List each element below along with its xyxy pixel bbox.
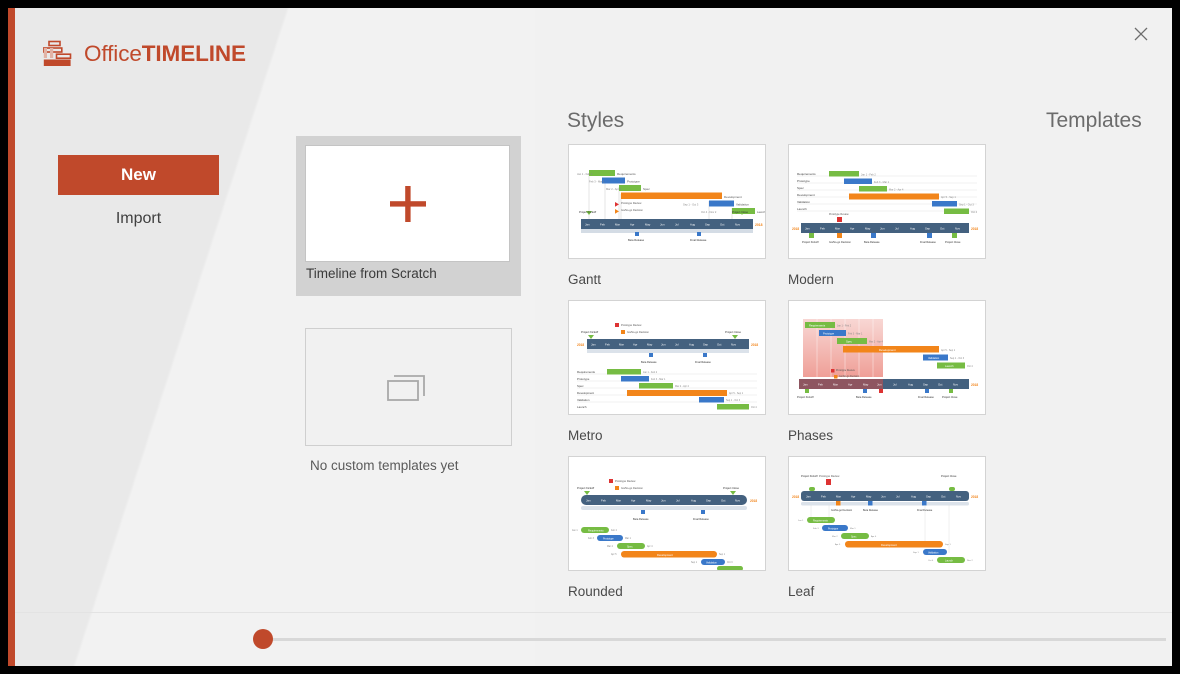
- svg-text:Launch: Launch: [945, 364, 954, 368]
- svg-text:Jul: Jul: [676, 499, 680, 503]
- svg-text:Sep 1 - Oct 3: Sep 1 - Oct 3: [726, 399, 741, 402]
- dialog-surface: OfficeTIMELINE New Import: [15, 8, 1172, 666]
- svg-text:Prototype: Prototype: [577, 377, 590, 381]
- svg-text:Apr: Apr: [633, 343, 637, 347]
- style-tile-leaf[interactable]: Prototype Review Project Kickoff Project…: [788, 456, 986, 599]
- svg-text:Feb: Feb: [600, 223, 605, 227]
- svg-text:May: May: [646, 499, 652, 503]
- svg-text:Sep: Sep: [923, 383, 928, 387]
- new-button[interactable]: New: [58, 155, 219, 195]
- close-icon[interactable]: [1126, 19, 1156, 49]
- svg-text:Beta Release: Beta Release: [863, 509, 879, 512]
- svg-text:Apr: Apr: [850, 227, 854, 231]
- svg-text:Validation: Validation: [797, 200, 810, 204]
- slider-divider: [15, 612, 1172, 613]
- svg-text:Prototype: Prototype: [823, 332, 835, 336]
- svg-text:Go/No-go Decision: Go/No-go Decision: [839, 375, 860, 378]
- svg-text:2018: 2018: [792, 495, 799, 499]
- svg-text:Jan 1: Jan 1: [572, 530, 578, 532]
- svg-text:Prototype Review: Prototype Review: [621, 201, 641, 205]
- svg-text:Spec: Spec: [797, 186, 804, 190]
- svg-text:Feb: Feb: [818, 383, 823, 387]
- svg-text:Sep 1 - Oct 3: Sep 1 - Oct 3: [959, 204, 974, 207]
- gantt-preview: Requirements Jan 1 - Feb 2 Prototype Feb…: [568, 144, 766, 259]
- svg-text:Nov 2: Nov 2: [967, 560, 973, 562]
- svg-text:2018: 2018: [971, 383, 978, 387]
- svg-text:Mar 2 - Apr 4: Mar 2 - Apr 4: [889, 189, 904, 192]
- svg-text:Requirements: Requirements: [577, 370, 596, 374]
- svg-text:Nov: Nov: [955, 227, 961, 231]
- svg-text:Spec: Spec: [627, 546, 633, 549]
- svg-text:2018: 2018: [971, 495, 978, 499]
- svg-text:Oct 4: Oct 4: [751, 406, 757, 409]
- svg-text:Final Release: Final Release: [920, 240, 936, 244]
- svg-text:Spec: Spec: [643, 187, 650, 191]
- svg-text:Jul: Jul: [896, 495, 900, 499]
- svg-text:Apr 5: Apr 5: [611, 553, 617, 556]
- svg-text:Apr: Apr: [848, 383, 852, 387]
- svg-text:2018: 2018: [792, 227, 799, 231]
- svg-text:Nov: Nov: [735, 499, 741, 503]
- svg-text:Feb: Feb: [605, 343, 610, 347]
- svg-text:May: May: [647, 343, 653, 347]
- svg-text:Validation: Validation: [928, 552, 939, 555]
- left-navigation: New Import: [15, 8, 277, 666]
- svg-text:Mar 2 - Apr 4: Mar 2 - Apr 4: [869, 341, 883, 344]
- svg-text:Nov: Nov: [735, 223, 741, 227]
- svg-text:Oct: Oct: [717, 343, 722, 347]
- svg-text:Final Release: Final Release: [695, 360, 711, 364]
- svg-text:Jul: Jul: [675, 223, 679, 227]
- style-label-metro: Metro: [568, 428, 766, 443]
- svg-text:Sep: Sep: [703, 343, 708, 347]
- svg-text:Oct 4: Oct 4: [928, 559, 934, 562]
- svg-text:Go/No-go Decision: Go/No-go Decision: [621, 208, 643, 212]
- svg-text:Prototype Review: Prototype Review: [819, 474, 839, 478]
- custom-templates-label: No custom templates yet: [310, 458, 459, 473]
- svg-text:Feb: Feb: [821, 495, 826, 499]
- svg-text:Spec: Spec: [846, 340, 853, 344]
- svg-text:May: May: [866, 495, 872, 499]
- svg-text:Apr 5 - Sep 1: Apr 5 - Sep 1: [729, 392, 744, 395]
- svg-text:Feb 3 - Mar 1: Feb 3 - Mar 1: [589, 180, 605, 184]
- svg-text:Sep 1: Sep 1: [945, 544, 952, 546]
- svg-text:Nov: Nov: [731, 343, 737, 347]
- svg-text:Jan: Jan: [803, 383, 808, 387]
- svg-text:Spec: Spec: [851, 536, 857, 539]
- custom-templates-card[interactable]: No custom templates yet: [305, 328, 512, 483]
- style-tile-rounded[interactable]: Prototype Review Go/No-go Decision Proje…: [568, 456, 766, 599]
- svg-text:Beta Release: Beta Release: [641, 360, 657, 364]
- svg-text:Prototype: Prototype: [627, 180, 640, 184]
- svg-text:Mar 2 - Apr 4: Mar 2 - Apr 4: [606, 187, 622, 191]
- svg-text:Feb 2: Feb 2: [611, 530, 618, 532]
- svg-text:Project Close: Project Close: [732, 210, 748, 214]
- style-label-phases: Phases: [788, 428, 986, 443]
- svg-text:Aug: Aug: [908, 383, 913, 387]
- svg-text:Jan: Jan: [805, 227, 810, 231]
- svg-text:Jan 1 - Feb 2: Jan 1 - Feb 2: [861, 174, 876, 177]
- svg-text:Go/No-go Decision: Go/No-go Decision: [831, 509, 853, 512]
- svg-text:Beta Release: Beta Release: [633, 517, 649, 521]
- svg-text:2018: 2018: [750, 499, 757, 503]
- svg-text:Project Close: Project Close: [945, 240, 961, 244]
- timeline-from-scratch-card[interactable]: Timeline from Scratch: [296, 136, 521, 296]
- svg-text:Nov: Nov: [956, 495, 962, 499]
- svg-text:Oct: Oct: [938, 383, 943, 387]
- svg-text:Launch: Launch: [945, 560, 954, 563]
- timeline-from-scratch-label: Timeline from Scratch: [306, 266, 437, 281]
- svg-text:Beta Release: Beta Release: [864, 240, 880, 244]
- svg-text:Sep 1 - Oct 3: Sep 1 - Oct 3: [683, 203, 699, 207]
- svg-text:Apr 5: Apr 5: [835, 543, 841, 546]
- office-timeline-dialog: OfficeTIMELINE New Import: [8, 8, 1172, 666]
- svg-text:Oct: Oct: [941, 495, 946, 499]
- rounded-preview: Prototype Review Go/No-go Decision Proje…: [568, 456, 766, 571]
- svg-text:Mar: Mar: [836, 495, 841, 499]
- svg-text:Requirements: Requirements: [797, 172, 816, 176]
- svg-text:Prototype Review: Prototype Review: [621, 323, 641, 327]
- svg-text:Jan: Jan: [806, 495, 811, 499]
- svg-text:Aug: Aug: [911, 495, 916, 499]
- svg-text:Final Release: Final Release: [693, 517, 709, 521]
- svg-text:Prototype Review: Prototype Review: [829, 213, 849, 216]
- svg-text:Development: Development: [881, 543, 897, 547]
- svg-text:Aug: Aug: [691, 499, 696, 503]
- svg-text:Requirements: Requirements: [809, 324, 826, 328]
- svg-text:2018: 2018: [755, 223, 763, 227]
- svg-text:Go/No-go Decision: Go/No-go Decision: [627, 330, 649, 334]
- svg-text:Oct 4: Oct 4: [971, 211, 978, 214]
- svg-text:Jun: Jun: [877, 383, 882, 387]
- svg-text:Feb 3: Feb 3: [588, 538, 595, 540]
- left-accent-stripe: [8, 8, 15, 666]
- svg-text:Mar: Mar: [616, 499, 621, 503]
- svg-text:Prototype Review: Prototype Review: [836, 369, 855, 372]
- svg-text:Aug: Aug: [689, 343, 694, 347]
- svg-text:Sep 1: Sep 1: [691, 562, 698, 564]
- svg-text:Mar 2: Mar 2: [607, 545, 614, 548]
- style-tile-metro[interactable]: Prototype Review Go/No-go Decision Proje…: [568, 300, 766, 443]
- svg-text:Sep 1: Sep 1: [913, 552, 920, 554]
- svg-text:Sep 1 - Oct 3: Sep 1 - Oct 3: [950, 357, 965, 360]
- leaf-preview: Prototype Review Project Kickoff Project…: [788, 456, 986, 571]
- svg-text:Apr 5 - Sep 1: Apr 5 - Sep 1: [941, 196, 956, 199]
- svg-text:Oct: Oct: [720, 223, 725, 227]
- svg-text:Project Close: Project Close: [942, 395, 958, 399]
- svg-text:Jun: Jun: [881, 495, 886, 499]
- svg-text:Requirements: Requirements: [813, 520, 829, 523]
- svg-text:Validation: Validation: [706, 562, 717, 565]
- custom-templates-thumbnail: [305, 328, 512, 446]
- svg-text:Validation: Validation: [736, 203, 749, 207]
- svg-text:Beta Release: Beta Release: [628, 238, 645, 242]
- svg-text:May: May: [863, 383, 869, 387]
- svg-text:Sep 1: Sep 1: [719, 554, 726, 556]
- svg-text:Jan: Jan: [585, 223, 590, 227]
- style-tile-gantt[interactable]: Requirements Jan 1 - Feb 2 Prototype Feb…: [568, 144, 766, 287]
- svg-text:Oct 4 - Nov 2: Oct 4 - Nov 2: [701, 210, 717, 214]
- modern-preview: RequirementsPrototypeSpec DevelopmentVal…: [788, 144, 986, 259]
- svg-text:Development: Development: [879, 348, 896, 352]
- svg-text:Sep: Sep: [705, 223, 710, 227]
- svg-text:Jan 1 - Feb 2: Jan 1 - Feb 2: [577, 172, 593, 176]
- metro-preview: Prototype Review Go/No-go Decision Proje…: [568, 300, 766, 415]
- slider-track[interactable]: [256, 638, 1166, 641]
- svg-text:Mar: Mar: [615, 223, 620, 227]
- svg-text:May: May: [645, 223, 651, 227]
- svg-text:Feb: Feb: [601, 499, 606, 503]
- style-tile-phases[interactable]: Requirements Jan 1 - Feb 2 Prototype Feb…: [788, 300, 986, 443]
- horizontal-scroll-slider[interactable]: [15, 620, 1172, 660]
- svg-text:2018: 2018: [751, 343, 758, 347]
- style-label-leaf: Leaf: [788, 584, 986, 599]
- svg-text:Jun: Jun: [880, 227, 885, 231]
- svg-text:Requirements: Requirements: [617, 172, 636, 176]
- svg-text:Project Kickoff: Project Kickoff: [797, 395, 814, 399]
- style-tile-modern[interactable]: RequirementsPrototypeSpec DevelopmentVal…: [788, 144, 986, 287]
- svg-text:Jul: Jul: [675, 343, 679, 347]
- svg-text:Feb 3 - Mar 1: Feb 3 - Mar 1: [874, 181, 890, 184]
- svg-text:Apr: Apr: [851, 495, 855, 499]
- style-label-rounded: Rounded: [568, 584, 766, 599]
- svg-text:Development: Development: [797, 193, 815, 197]
- svg-text:Launch: Launch: [757, 210, 765, 214]
- svg-text:Feb: Feb: [820, 227, 825, 231]
- svg-text:Apr 4: Apr 4: [647, 545, 653, 548]
- svg-text:Prototype: Prototype: [797, 179, 810, 183]
- svg-text:Jan: Jan: [586, 499, 591, 503]
- svg-text:Aug: Aug: [690, 223, 695, 227]
- svg-text:Sep: Sep: [925, 227, 930, 231]
- svg-text:Mar 2: Mar 2: [832, 535, 838, 538]
- svg-text:Project Kickoff: Project Kickoff: [577, 486, 594, 490]
- svg-text:Oct: Oct: [940, 227, 945, 231]
- svg-text:May: May: [865, 227, 871, 231]
- svg-text:Apr: Apr: [630, 223, 634, 227]
- svg-text:2018: 2018: [971, 227, 978, 231]
- svg-text:Beta Release: Beta Release: [856, 395, 872, 399]
- svg-text:Aug: Aug: [910, 227, 915, 231]
- style-label-modern: Modern: [788, 272, 986, 287]
- svg-text:Development: Development: [724, 195, 742, 199]
- svg-text:Jan 1: Jan 1: [798, 520, 804, 522]
- svg-text:Launch: Launch: [577, 405, 587, 409]
- svg-text:Mar: Mar: [833, 383, 838, 387]
- svg-text:Requirements: Requirements: [588, 530, 604, 533]
- svg-text:Oct: Oct: [721, 499, 726, 503]
- timeline-from-scratch-thumbnail: [305, 145, 510, 262]
- svg-text:Jan: Jan: [591, 343, 596, 347]
- svg-text:2018: 2018: [577, 343, 584, 347]
- svg-text:Prototype: Prototype: [828, 528, 839, 531]
- svg-text:Apr 4: Apr 4: [871, 535, 877, 538]
- svg-text:Launch: Launch: [797, 207, 807, 211]
- svg-text:Sep: Sep: [926, 495, 931, 499]
- svg-text:Project Kickoff: Project Kickoff: [581, 330, 598, 334]
- templates-heading: Templates: [1046, 109, 1142, 133]
- import-button[interactable]: Import: [58, 206, 219, 232]
- svg-text:Mar 1: Mar 1: [850, 527, 856, 530]
- slider-handle[interactable]: [253, 629, 273, 649]
- styles-heading: Styles: [567, 109, 624, 133]
- svg-text:Mar: Mar: [835, 227, 840, 231]
- svg-text:Jul: Jul: [895, 227, 899, 231]
- svg-text:Project Close: Project Close: [725, 330, 741, 334]
- svg-text:Feb 3 - Mar 1: Feb 3 - Mar 1: [651, 378, 666, 381]
- svg-text:Oct 4: Oct 4: [967, 365, 973, 368]
- svg-text:Nov: Nov: [953, 383, 959, 387]
- svg-text:Project Kickoff: Project Kickoff: [802, 240, 819, 244]
- svg-text:Apr: Apr: [631, 499, 635, 503]
- duplicate-rectangles-icon: [386, 367, 432, 408]
- svg-text:Project Kickoff: Project Kickoff: [579, 210, 596, 214]
- svg-text:Mar 1: Mar 1: [625, 537, 632, 540]
- svg-text:Jan 1 - Feb 2: Jan 1 - Feb 2: [643, 371, 658, 374]
- phases-preview: Requirements Jan 1 - Feb 2 Prototype Feb…: [788, 300, 986, 415]
- svg-text:Go/No-go Decision: Go/No-go Decision: [829, 240, 851, 244]
- svg-text:Sep: Sep: [706, 499, 711, 503]
- svg-text:Feb 3: Feb 3: [813, 528, 819, 530]
- svg-text:Oct 3: Oct 3: [727, 561, 733, 564]
- svg-text:Validation: Validation: [928, 356, 940, 360]
- svg-text:Apr 5 - Sep 1: Apr 5 - Sep 1: [941, 349, 956, 352]
- svg-text:Jun: Jun: [661, 343, 666, 347]
- svg-text:Development: Development: [577, 391, 594, 395]
- svg-text:Jun: Jun: [660, 223, 665, 227]
- svg-text:Development: Development: [657, 553, 673, 557]
- svg-text:Feb 3 - Mar 1: Feb 3 - Mar 1: [848, 333, 863, 336]
- svg-text:Project Kickoff: Project Kickoff: [801, 474, 818, 478]
- svg-text:Mar: Mar: [619, 343, 624, 347]
- svg-text:Jun: Jun: [661, 499, 666, 503]
- svg-text:Mar 2 - Apr 4: Mar 2 - Apr 4: [675, 385, 689, 388]
- svg-text:Jan 1 - Feb 2: Jan 1 - Feb 2: [837, 325, 852, 328]
- svg-text:Jul: Jul: [893, 383, 897, 387]
- svg-text:Final Release: Final Release: [690, 238, 707, 242]
- svg-text:Final Release: Final Release: [918, 395, 934, 399]
- style-label-gantt: Gantt: [568, 272, 766, 287]
- svg-text:Prototype Review: Prototype Review: [615, 479, 635, 483]
- plus-icon: [387, 183, 429, 225]
- svg-text:Validation: Validation: [577, 398, 590, 402]
- svg-text:Project Close: Project Close: [941, 474, 957, 478]
- svg-text:Project Close: Project Close: [723, 486, 739, 490]
- svg-text:Go/No-go Decision: Go/No-go Decision: [621, 486, 643, 490]
- svg-text:Prototype: Prototype: [603, 538, 614, 541]
- svg-text:Spec: Spec: [577, 384, 584, 388]
